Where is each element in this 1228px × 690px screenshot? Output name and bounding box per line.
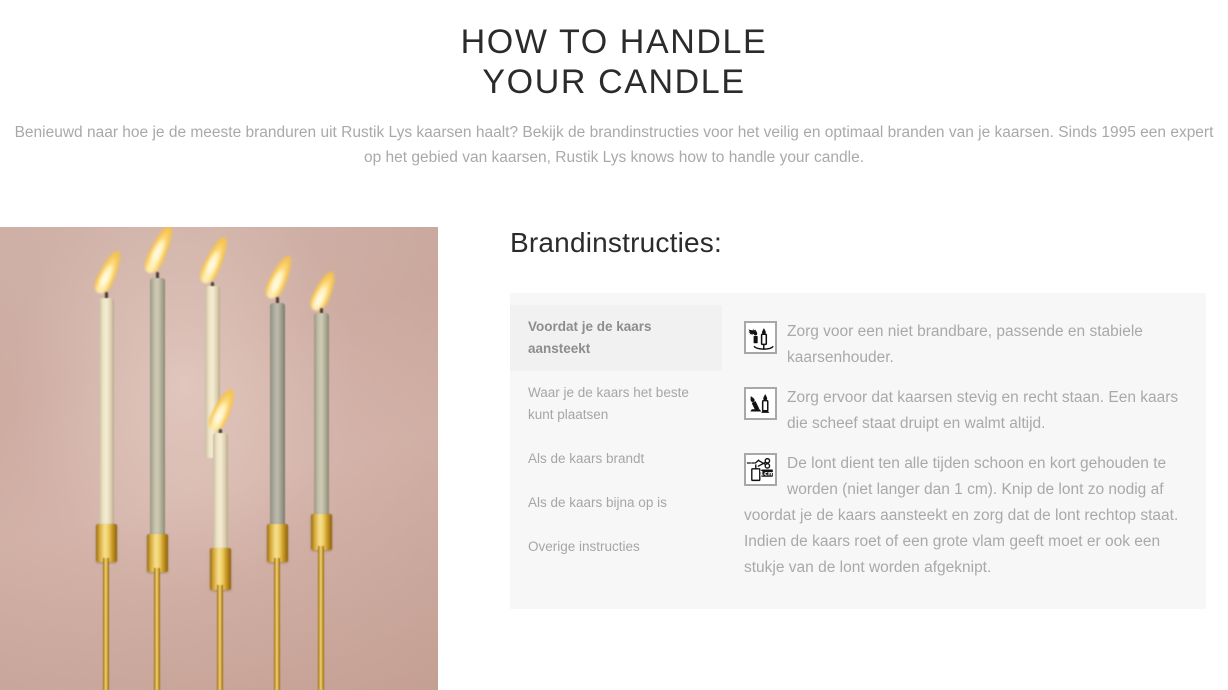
candle-holder-icon xyxy=(744,321,777,354)
tab-panel-content: Zorg voor een niet brandbare, passende e… xyxy=(722,293,1206,609)
candle-photo xyxy=(0,227,438,690)
candle-holder-rod xyxy=(103,558,109,690)
instruction-item: 1cm De lont dient ten alle tijden schoon… xyxy=(744,451,1190,581)
content-row: Brandinstructies: Voordat je de kaars aa… xyxy=(0,227,1228,690)
instructions-column: Brandinstructies: Voordat je de kaars aa… xyxy=(510,227,1206,609)
instruction-text: Zorg ervoor dat kaarsen stevig en recht … xyxy=(787,389,1178,432)
candle-holder-cup xyxy=(311,514,332,550)
page-title-line-2: YOUR CANDLE xyxy=(0,62,1228,102)
candle-holder-ball xyxy=(147,658,167,678)
candle-holder-cup xyxy=(267,524,288,562)
instruction-text: Zorg voor een niet brandbare, passende e… xyxy=(787,323,1143,366)
tab-overige-instructies[interactable]: Overige instructies xyxy=(510,525,722,569)
tab-als-de-kaars-brandt[interactable]: Als de kaars brandt xyxy=(510,437,722,481)
candle-holder-cup xyxy=(210,548,231,590)
tab-voordat-je-de-kaars-aansteekt[interactable]: Voordat je de kaars aansteekt xyxy=(510,305,722,371)
candle-holder-ball xyxy=(96,642,116,662)
candle-stick xyxy=(314,313,329,518)
wick-length-label: 1cm xyxy=(759,469,774,477)
candle-holder-ball xyxy=(210,666,234,690)
candle-stick xyxy=(213,433,228,555)
candle-holder-rod xyxy=(318,546,324,690)
candle-holder-cup xyxy=(147,534,168,572)
tab-list: Voordat je de kaars aansteekt Waar je de… xyxy=(510,293,722,609)
instruction-item: Zorg ervoor dat kaarsen stevig en recht … xyxy=(744,385,1190,437)
instruction-item: Zorg voor een niet brandbare, passende e… xyxy=(744,319,1190,371)
candle-stick xyxy=(150,278,165,540)
section-title: Brandinstructies: xyxy=(510,227,1206,259)
candle-upright-icon xyxy=(744,387,777,420)
tab-waar-je-de-kaars-het-beste-kunt-plaatsen[interactable]: Waar je de kaars het beste kunt plaatsen xyxy=(510,371,722,437)
tabs-container: Voordat je de kaars aansteekt Waar je de… xyxy=(510,293,1206,609)
instruction-text: De lont dient ten alle tijden schoon en … xyxy=(744,455,1178,576)
intro-paragraph: Benieuwd naar hoe je de meeste branduren… xyxy=(14,120,1214,170)
candle-holder-ball xyxy=(311,640,331,660)
tab-als-de-kaars-bijna-op-is[interactable]: Als de kaars bijna op is xyxy=(510,481,722,525)
trim-wick-scissors-icon: 1cm xyxy=(744,453,777,486)
candle-stick xyxy=(270,303,285,530)
page-title-line-1: HOW TO HANDLE xyxy=(0,22,1228,62)
page-title: HOW TO HANDLE YOUR CANDLE xyxy=(0,0,1228,102)
candle-holder-cup xyxy=(96,524,117,562)
candle-holder-ball xyxy=(267,658,287,678)
candle-stick xyxy=(99,298,114,530)
page-root: HOW TO HANDLE YOUR CANDLE Benieuwd naar … xyxy=(0,0,1228,690)
